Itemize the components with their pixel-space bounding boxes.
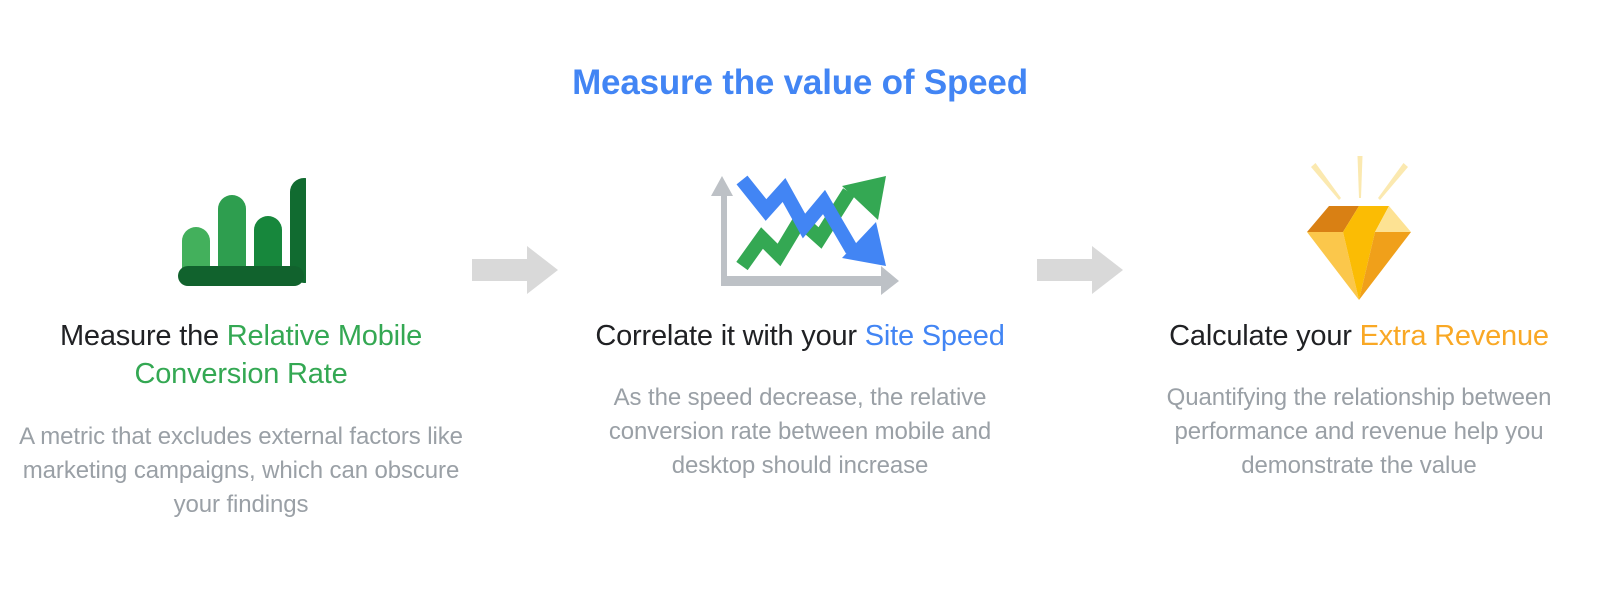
step-2-heading: Correlate it with your Site Speed	[595, 317, 1004, 355]
step-card-1: Measure the Relative Mobile Conversion R…	[0, 155, 482, 522]
step-3-heading-accent: Extra Revenue	[1360, 320, 1549, 352]
sparkle-rays-icon	[1311, 156, 1408, 200]
step-2-heading-plain: Correlate it with your	[595, 320, 864, 352]
step-1-body: A metric that excludes external factors …	[6, 420, 476, 522]
step-1-heading: Measure the Relative Mobile Conversion R…	[11, 317, 471, 394]
step-3-heading-plain: Calculate your	[1169, 320, 1359, 352]
connector-arrow-2	[1037, 246, 1123, 294]
step-2-heading-accent: Site Speed	[865, 320, 1005, 352]
page-title: Measure the value of Speed	[0, 62, 1600, 104]
steps-container: Measure the Relative Mobile Conversion R…	[0, 155, 1600, 522]
step-2-body: As the speed decrease, the relative conv…	[565, 381, 1035, 483]
connector-arrow-1	[472, 246, 558, 294]
step-3-heading: Calculate your Extra Revenue	[1169, 317, 1549, 355]
step-card-3: Calculate your Extra Revenue Quantifying…	[1118, 155, 1600, 484]
infographic-root: Measure the value of Speed Measure the R…	[0, 0, 1600, 612]
gem-icon	[1289, 154, 1429, 306]
line-chart-crossing-arrows-icon	[700, 158, 900, 303]
arrow-right-icon	[472, 246, 558, 294]
gem-body-icon	[1307, 206, 1411, 300]
step-1-heading-plain: Measure the	[60, 320, 227, 352]
step-card-2: Correlate it with your Site Speed As the…	[559, 155, 1041, 484]
step-3-icon-slot	[1118, 155, 1600, 305]
step-2-icon-slot	[559, 155, 1041, 305]
step-3-body: Quantifying the relationship between per…	[1124, 381, 1594, 483]
bar-chart-icon	[176, 169, 306, 291]
arrow-right-icon	[1037, 246, 1123, 294]
step-1-icon-slot	[0, 155, 482, 305]
